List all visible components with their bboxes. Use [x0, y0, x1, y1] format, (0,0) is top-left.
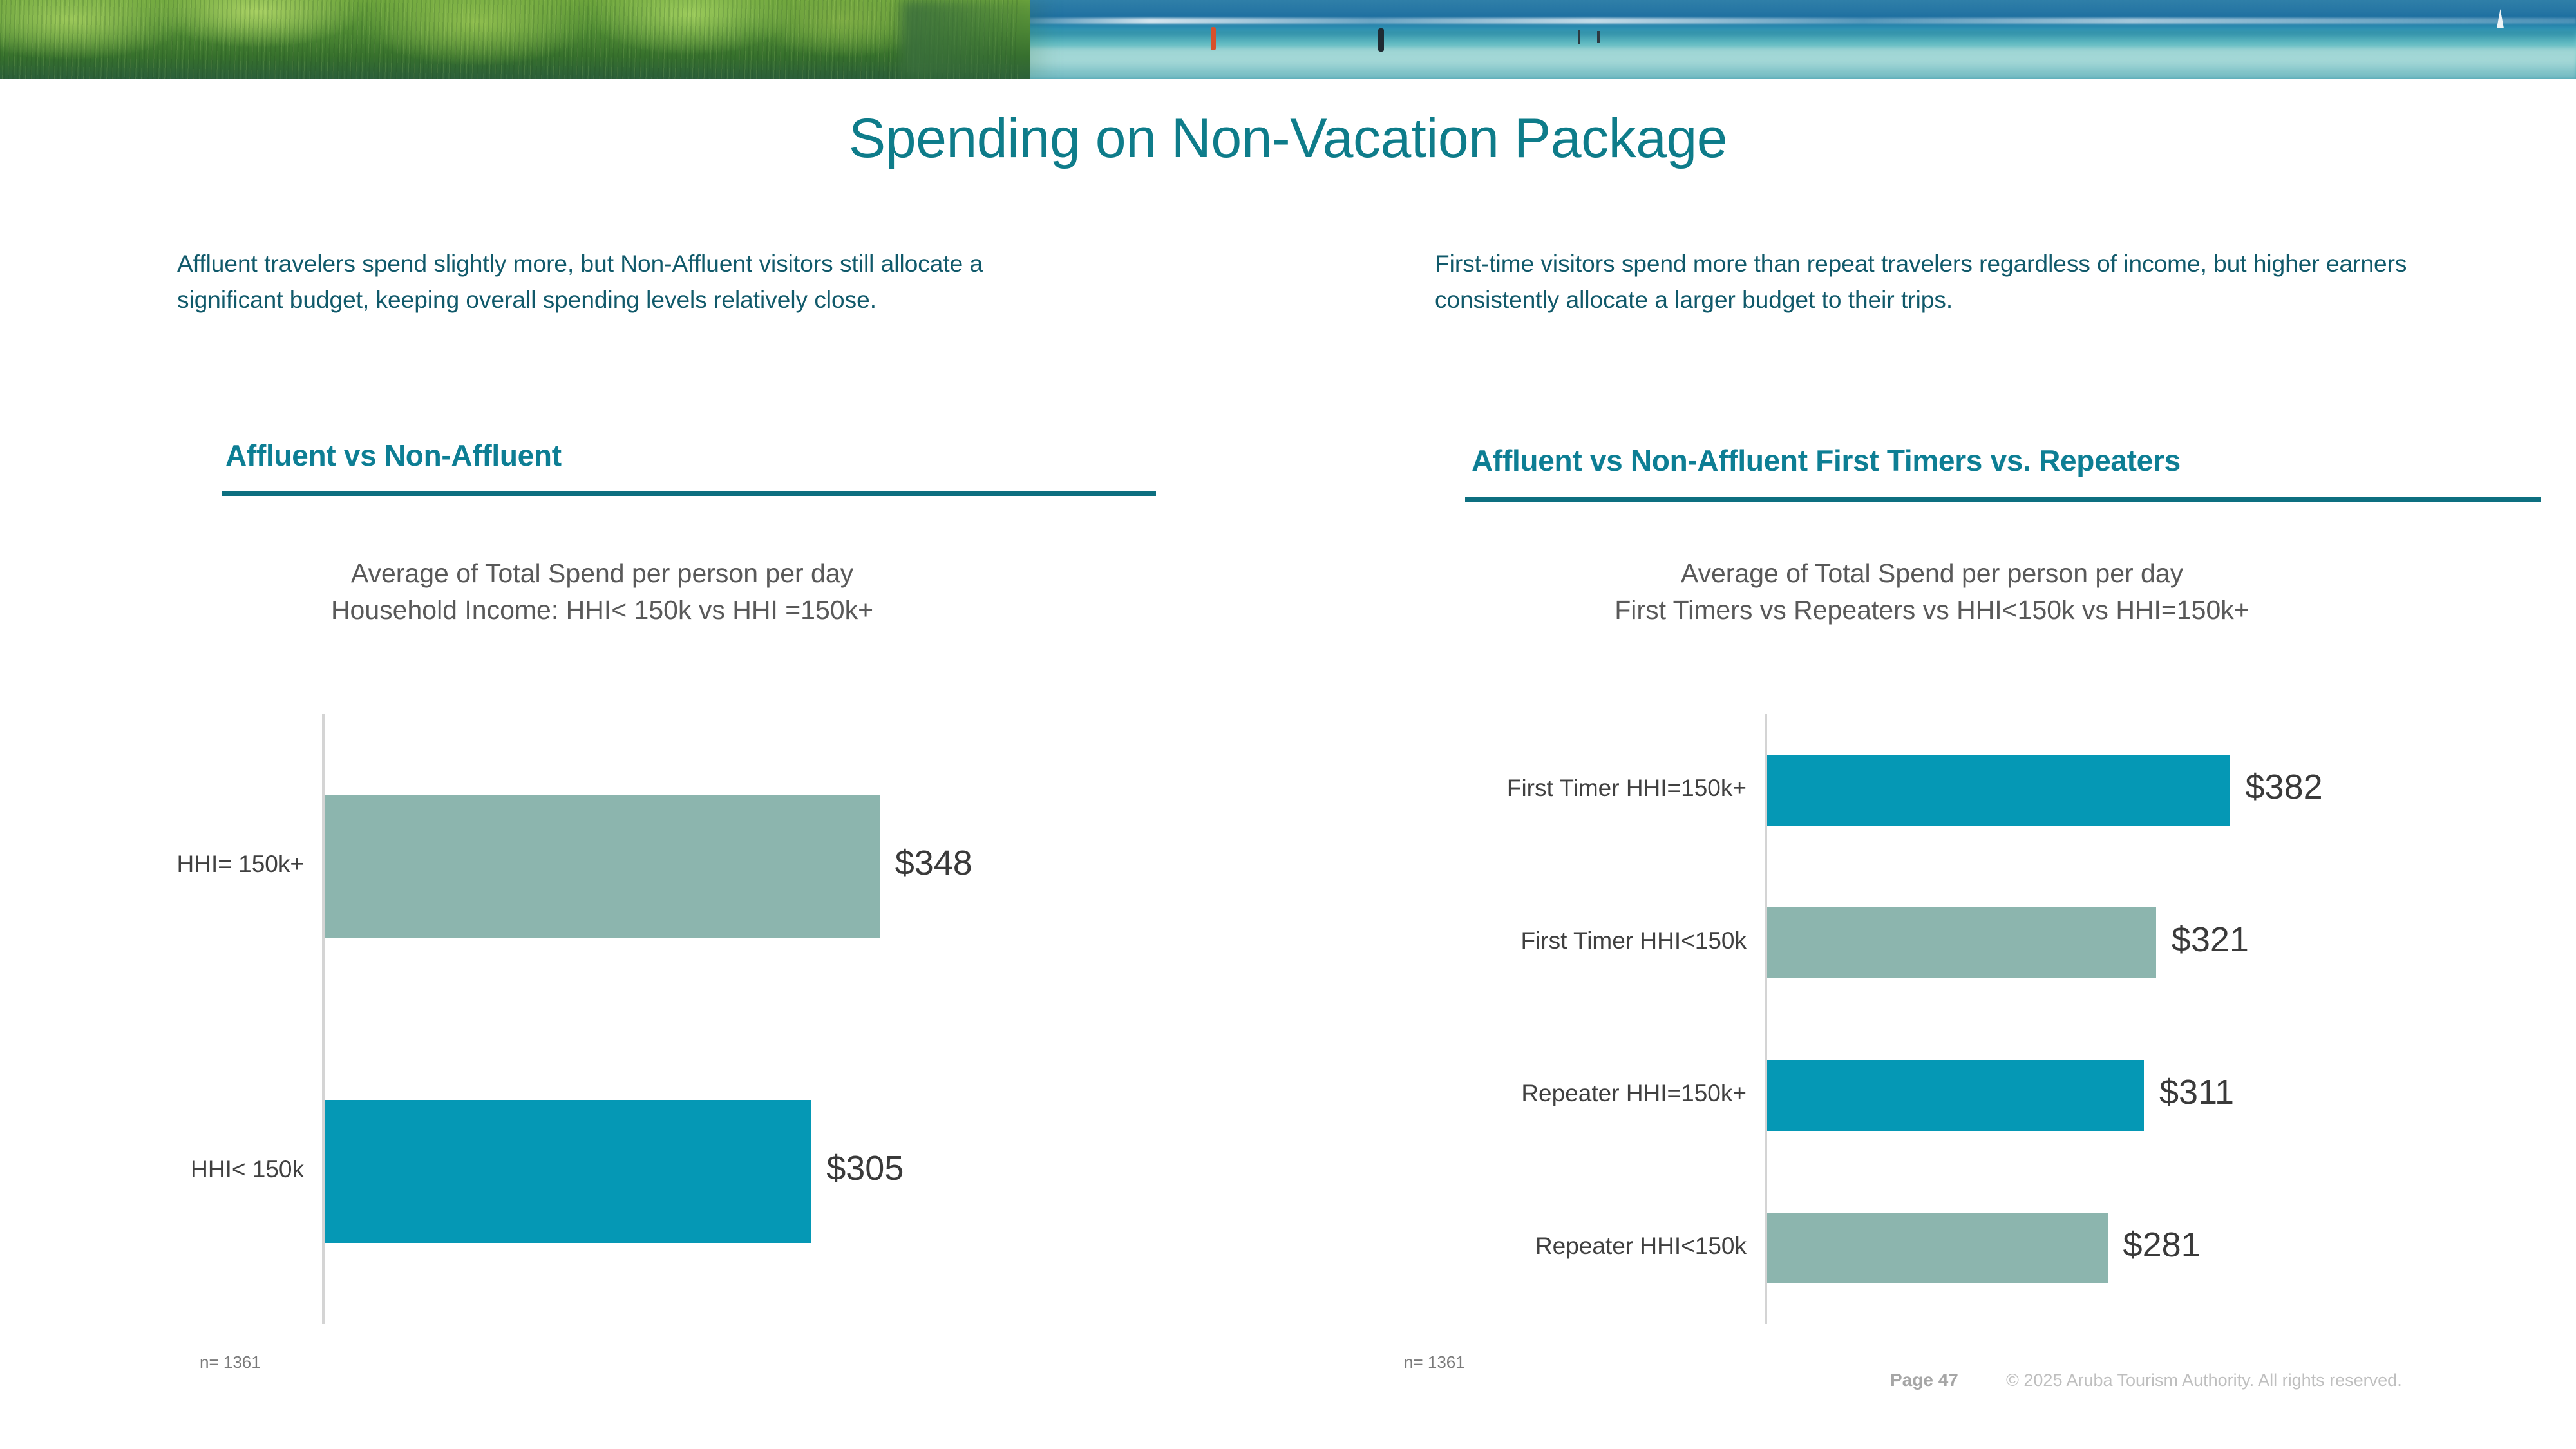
surf-line [992, 18, 2576, 24]
section-rule-right [1465, 497, 2541, 502]
bar-value-label: $321 [2172, 920, 2249, 960]
bar[interactable] [1767, 1213, 2108, 1283]
bar-value-label: $311 [2159, 1072, 2234, 1112]
chart-title-line1: Average of Total Spend per person per da… [142, 555, 1063, 592]
bar-chart-affluent-vs-non-affluent: HHI= 150k+$348HHI< 150k$305 [0, 714, 1159, 1324]
dark-buoy-icon [1378, 28, 1384, 52]
bar-category-label: Repeater HHI=150k+ [1521, 1080, 1747, 1107]
chart-title-line2: First Timers vs Repeaters vs HHI<150k vs… [1443, 592, 2421, 629]
section-rule-left [222, 491, 1156, 496]
bar[interactable] [325, 795, 880, 938]
chart-title-line2: Household Income: HHI< 150k vs HHI =150k… [142, 592, 1063, 629]
foliage-texture [0, 0, 1018, 79]
small-marker-icon [1578, 30, 1580, 44]
bar-value-label: $348 [895, 843, 972, 883]
section-heading-right: Affluent vs Non-Affluent First Timers vs… [1472, 443, 2181, 478]
page-title: Spending on Non-Vacation Package [0, 108, 2576, 169]
bar-category-label: First Timer HHI=150k+ [1507, 775, 1747, 802]
bar-chart-first-timers-vs-repeaters: First Timer HHI=150k+$382First Timer HHI… [1288, 714, 2576, 1324]
insight-text-right: First-time visitors spend more than repe… [1435, 246, 2530, 318]
bar-value-label: $305 [826, 1148, 904, 1188]
copyright-notice: © 2025 Aruba Tourism Authority. All righ… [2006, 1370, 2402, 1390]
chart-subtitle-left: Average of Total Spend per person per da… [142, 555, 1063, 628]
chart-subtitle-right: Average of Total Spend per person per da… [1443, 555, 2421, 628]
bar-category-label: HHI= 150k+ [177, 851, 304, 878]
bar-category-label: Repeater HHI<150k [1535, 1233, 1747, 1260]
bar-value-label: $382 [2246, 767, 2323, 807]
bar[interactable] [1767, 755, 2230, 826]
bar[interactable] [1767, 907, 2156, 978]
insight-text-left: Affluent travelers spend slightly more, … [177, 246, 1008, 318]
page-number: Page 47 [1890, 1370, 1958, 1390]
bar[interactable] [1767, 1060, 2144, 1131]
chart-title-line1: Average of Total Spend per person per da… [1443, 555, 2421, 592]
sample-size-note-right: n= 1361 [1404, 1352, 1465, 1372]
header-banner-image [0, 0, 2576, 79]
small-marker-icon [1597, 31, 1600, 43]
shallow-water-band [966, 48, 2576, 79]
orange-buoy-icon [1211, 27, 1216, 50]
section-heading-left: Affluent vs Non-Affluent [225, 438, 562, 473]
bar-value-label: $281 [2123, 1225, 2201, 1265]
sample-size-note-left: n= 1361 [200, 1352, 261, 1372]
bar[interactable] [325, 1100, 811, 1243]
mangrove-trees-icon [0, 0, 1030, 79]
bar-category-label: HHI< 150k [191, 1156, 304, 1183]
bar-category-label: First Timer HHI<150k [1520, 927, 1747, 954]
